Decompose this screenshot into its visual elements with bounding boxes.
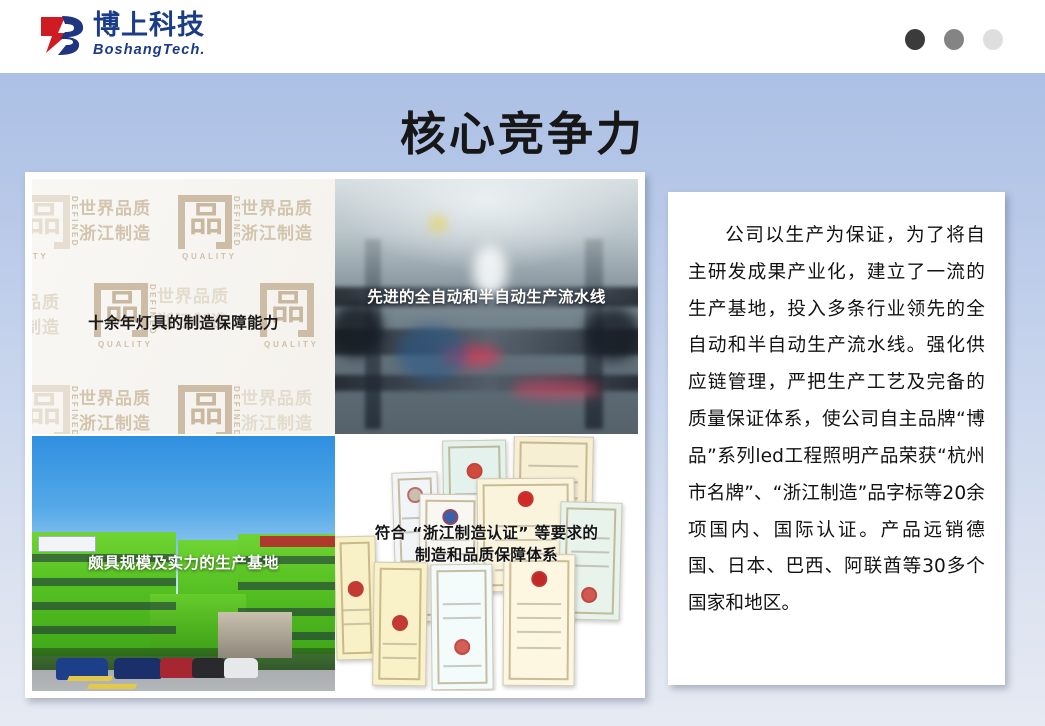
wall-line-1: 世界品质 (79, 387, 151, 412)
mark-vertical-word: DEFINED (70, 196, 79, 248)
mark-bottom-word: LITY (32, 252, 49, 261)
mark-vertical-word: DEFINED (232, 386, 241, 434)
wall-line-2: 浙江制造 (79, 412, 151, 434)
factory-banner (260, 536, 335, 547)
header-bar: 博上科技 BoshangTech. (0, 0, 1045, 73)
backdrop-wall-texture: 品 LITY DEFINED 世界品质 浙江制造 品 Q (32, 179, 335, 434)
image-collage-grid: 品 LITY DEFINED 世界品质 浙江制造 品 Q (32, 179, 638, 691)
quality-mark-icon: 品 (178, 385, 232, 434)
wall-badge-text: 世界品质 浙江制造 (241, 387, 313, 434)
certificate (372, 562, 428, 687)
mark-char: 品 (189, 203, 223, 237)
quality-mark-icon: 品 LITY (32, 195, 70, 249)
certificates-caption-line-2: 制造和品质保障体系 (415, 546, 558, 564)
factory-sign-board (38, 536, 96, 552)
tile-caption-quality: 十余年灯具的制造保障能力 (32, 312, 335, 334)
page-title: 核心竞争力 (0, 98, 1045, 164)
tile-caption-certificates: 符合 “浙江制造认证” 等要求的 制造和品质保障体系 (335, 522, 638, 567)
mark-char: 品 (32, 393, 61, 427)
collage-tile-production-line[interactable]: 先进的全自动和半自动生产流水线 (335, 179, 638, 434)
wall-badge: 品 DEFINED 世界品质 浙江制造 (32, 385, 151, 434)
certificate (503, 554, 576, 686)
wall-line-2: 浙江制造 (241, 222, 313, 247)
slide-root: 博上科技 BoshangTech. 核心竞争力 品 LITY (0, 0, 1045, 726)
parked-car (192, 658, 226, 678)
logo-chinese-name: 博上科技 (93, 12, 206, 39)
logo-english-name: BoshangTech. (93, 43, 206, 58)
wall-badge: 品 QUALITY DEFINED 世界品质 浙江制造 (178, 195, 313, 249)
certificate (430, 564, 493, 691)
wall-badge-text: 世界品质 浙江制造 (79, 197, 151, 246)
gatehouse (218, 612, 292, 658)
description-paragraph: 公司以生产为保证，为了将自主研发成果产业化，建立了一流的生产基地，投入多条行业领… (688, 218, 985, 623)
wall-line-1: 世界品质 (241, 197, 313, 222)
wall-badge: 品 DEFINED 世界品质 浙江制造 (178, 385, 313, 434)
mark-char: 品 (32, 203, 61, 237)
wall-badge: 品 LITY DEFINED 世界品质 浙江制造 (32, 195, 151, 249)
tile-caption-production-line: 先进的全自动和半自动生产流水线 (335, 286, 638, 308)
wall-line-1: 世界品质 (79, 197, 151, 222)
mark-vertical-word: DEFINED (232, 196, 241, 248)
logo-text-block: 博上科技 BoshangTech. (93, 12, 206, 58)
mark-vertical-word: DEFINED (70, 386, 79, 434)
collage-tile-certificates[interactable]: 符合 “浙江制造认证” 等要求的 制造和品质保障体系 (335, 436, 638, 691)
wall-line-1: 世界品质 (241, 387, 313, 412)
wall-badge-text: 世界品质 浙江制造 (241, 197, 313, 246)
boshang-bs-monogram-icon (38, 12, 86, 58)
mark-bottom-word: QUALITY (182, 252, 237, 261)
page-indicator-dots[interactable] (905, 29, 1003, 50)
mark-char: 品 (189, 393, 223, 427)
mark-bottom-word: QUALITY (98, 340, 153, 349)
parked-car (114, 658, 162, 679)
dot-dark[interactable] (905, 29, 925, 50)
description-card: 公司以生产为保证，为了将自主研发成果产业化，建立了一流的生产基地，投入多条行业领… (668, 192, 1005, 685)
collage-tile-factory-base[interactable]: 颇具规模及实力的生产基地 (32, 436, 335, 691)
image-collage-card: 品 LITY DEFINED 世界品质 浙江制造 品 Q (25, 172, 645, 698)
quality-mark-icon: 品 QUALITY (178, 195, 232, 249)
wall-line-2: 浙江制造 (79, 222, 151, 247)
tile-caption-factory-base: 颇具规模及实力的生产基地 (32, 552, 335, 574)
parked-car (224, 658, 258, 678)
parked-car (160, 658, 196, 678)
certificates-caption-line-1: 符合 “浙江制造认证” 等要求的 (375, 524, 599, 542)
wall-badge-text: 世界品质 浙江制造 (79, 387, 151, 434)
dot-light[interactable] (983, 29, 1003, 50)
collage-tile-quality-backdrop[interactable]: 品 LITY DEFINED 世界品质 浙江制造 品 Q (32, 179, 335, 434)
company-logo[interactable]: 博上科技 BoshangTech. (38, 12, 206, 58)
dot-medium[interactable] (944, 29, 964, 50)
wall-line-1: 世界品质 (157, 285, 229, 310)
quality-mark-icon: 品 (32, 385, 70, 434)
mark-bottom-word: QUALITY (264, 340, 319, 349)
wall-line-2: 浙江制造 (241, 412, 313, 434)
